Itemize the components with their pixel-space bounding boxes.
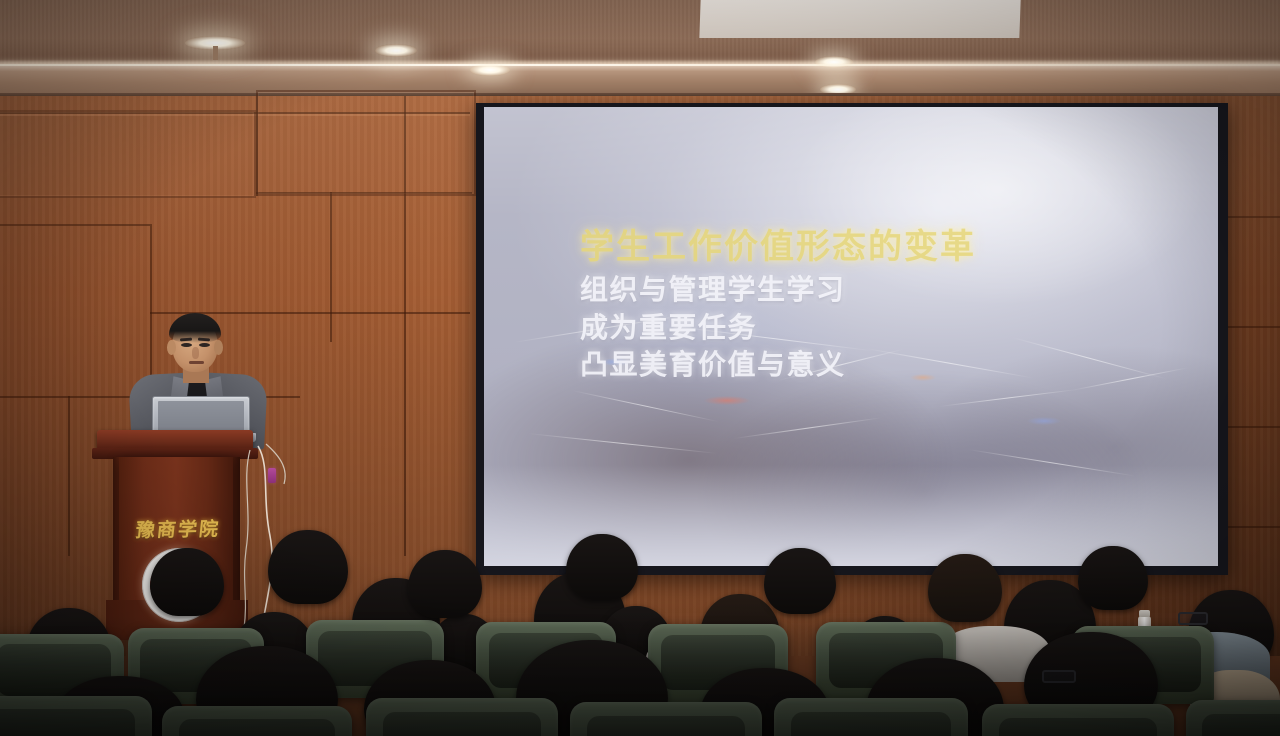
eyeglasses-icon (1178, 612, 1208, 625)
ceiling (0, 0, 1280, 96)
audience-head (764, 548, 836, 614)
presenter-hair (169, 313, 221, 343)
auditorium-seat (982, 704, 1174, 736)
audience-head (150, 548, 224, 616)
presenter-ear-left (167, 340, 176, 355)
auditorium-seat (570, 702, 762, 736)
cable-tag (268, 468, 276, 483)
presenter-nose (192, 347, 199, 359)
slide-line-2: 成为重要任务 (580, 313, 1200, 343)
presenter-ear-right (214, 340, 223, 355)
slide-line-1: 组织与管理学生学习 (580, 275, 1200, 305)
auditorium-seat (1186, 700, 1280, 736)
ceiling-soffit (0, 66, 1280, 96)
slide-text-block: 学生工作价值形态的变革 组织与管理学生学习 成为重要任务 凸显美育价值与意义 (580, 229, 1200, 388)
audience-head (566, 534, 638, 600)
ceiling-spotlight-icon (470, 64, 510, 76)
eyeglasses-icon (1042, 670, 1076, 683)
projection-screen[interactable]: 学生工作价值形态的变革 组织与管理学生学习 成为重要任务 凸显美育价值与意义 (484, 107, 1218, 566)
ceiling-spotlight-icon (375, 44, 417, 57)
auditorium-seat (0, 696, 152, 736)
presenter-mouth (189, 361, 204, 364)
ceiling-spotlight-icon (815, 56, 853, 68)
slide-title: 学生工作价值形态的变革 (580, 229, 1200, 265)
presenter-eye-right (199, 343, 210, 347)
ceiling-access-panel (699, 0, 1020, 38)
auditorium-seat (774, 698, 968, 736)
ceiling-spotlight-icon (185, 36, 245, 50)
audience-head (268, 530, 348, 604)
audience-seating (0, 520, 1280, 736)
audience-head (928, 554, 1002, 622)
lecture-hall-photo: 学生工作价值形态的变革 组织与管理学生学习 成为重要任务 凸显美育价值与意义 豫… (0, 0, 1280, 736)
water-bottle-cap (1139, 610, 1150, 617)
auditorium-seat (366, 698, 558, 736)
presenter-eye-left (181, 343, 192, 347)
audience-head (1078, 546, 1148, 610)
auditorium-seat (162, 706, 352, 736)
slide-line-3: 凸显美育价值与意义 (580, 350, 1200, 380)
audience-head (408, 550, 482, 618)
